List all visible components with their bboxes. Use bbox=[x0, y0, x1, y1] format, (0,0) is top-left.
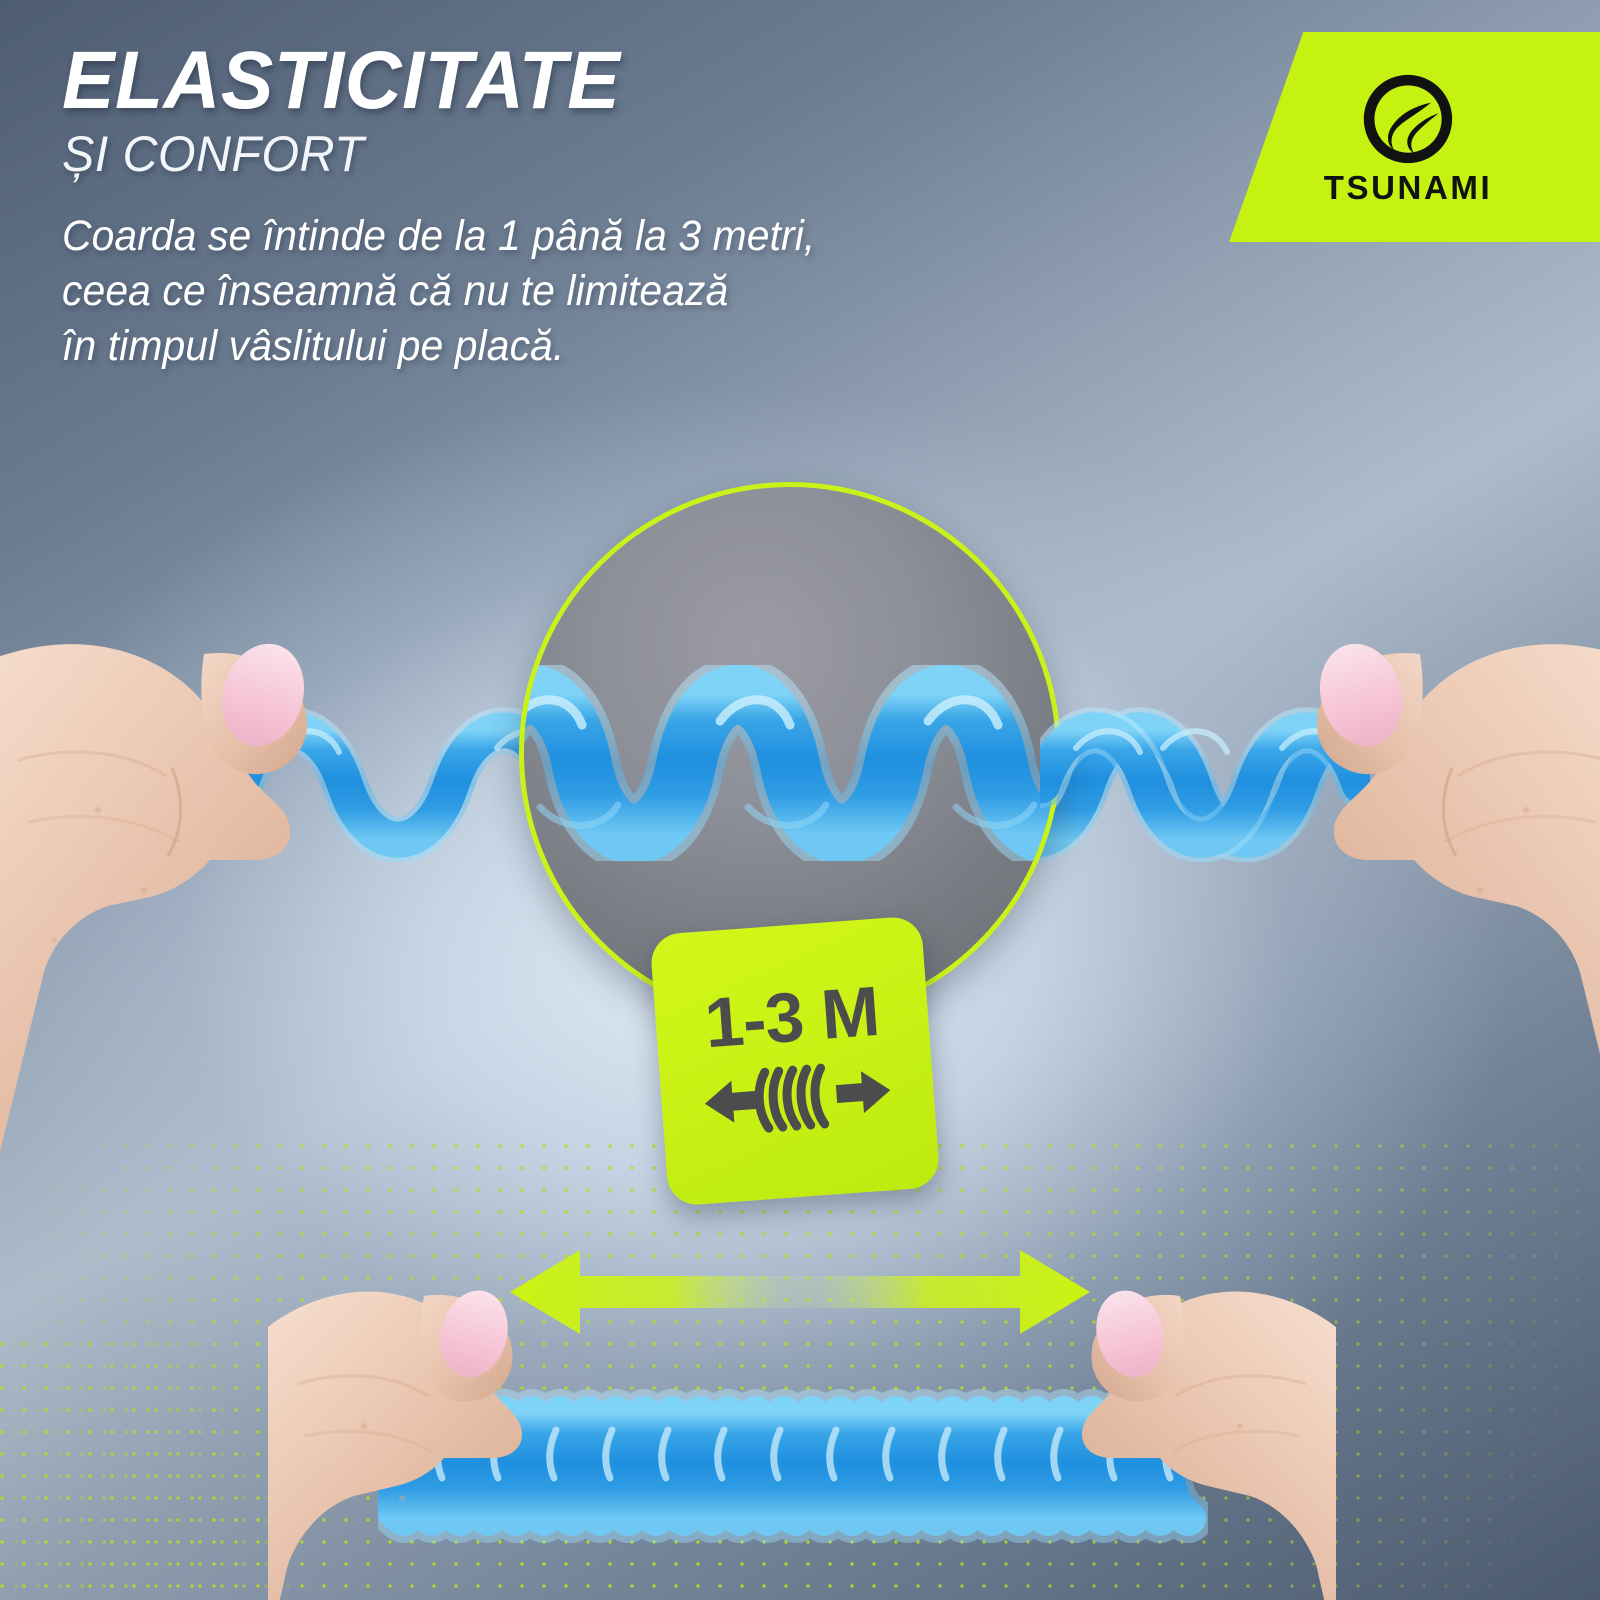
headline-block: ELASTICITATE ȘI CONFORT Coarda se întind… bbox=[62, 40, 1182, 374]
infographic-canvas: ELASTICITATE ȘI CONFORT Coarda se întind… bbox=[0, 0, 1600, 1600]
measurement-badge: 1-3 M bbox=[649, 915, 940, 1206]
brand-badge: TSUNAMI bbox=[1190, 32, 1600, 242]
spring-stretch-arrows-icon bbox=[700, 1053, 895, 1141]
hand-gripping-coil-left bbox=[0, 560, 478, 1160]
tsunami-wave-circle-icon bbox=[1360, 71, 1456, 167]
hand-gripping-compressed-coil-left bbox=[268, 1258, 598, 1600]
measurement-value: 1-3 M bbox=[702, 976, 881, 1059]
page-title: ELASTICITATE bbox=[62, 40, 1137, 122]
description-text: Coarda se întinde de la 1 până la 3 metr… bbox=[62, 209, 1126, 374]
hand-gripping-compressed-coil-right bbox=[1006, 1258, 1336, 1600]
description-line-3: în timpul vâslitului pe placă. bbox=[62, 319, 1126, 374]
magnified-coil bbox=[519, 665, 1061, 861]
brand-name: TSUNAMI bbox=[1324, 171, 1493, 204]
description-line-2: ceea ce înseamnă că nu te limitează bbox=[62, 264, 1126, 319]
description-line-1: Coarda se întinde de la 1 până la 3 metr… bbox=[62, 209, 1126, 264]
hand-gripping-coil-right bbox=[1146, 560, 1600, 1160]
page-subtitle: ȘI CONFORT bbox=[62, 128, 1148, 181]
